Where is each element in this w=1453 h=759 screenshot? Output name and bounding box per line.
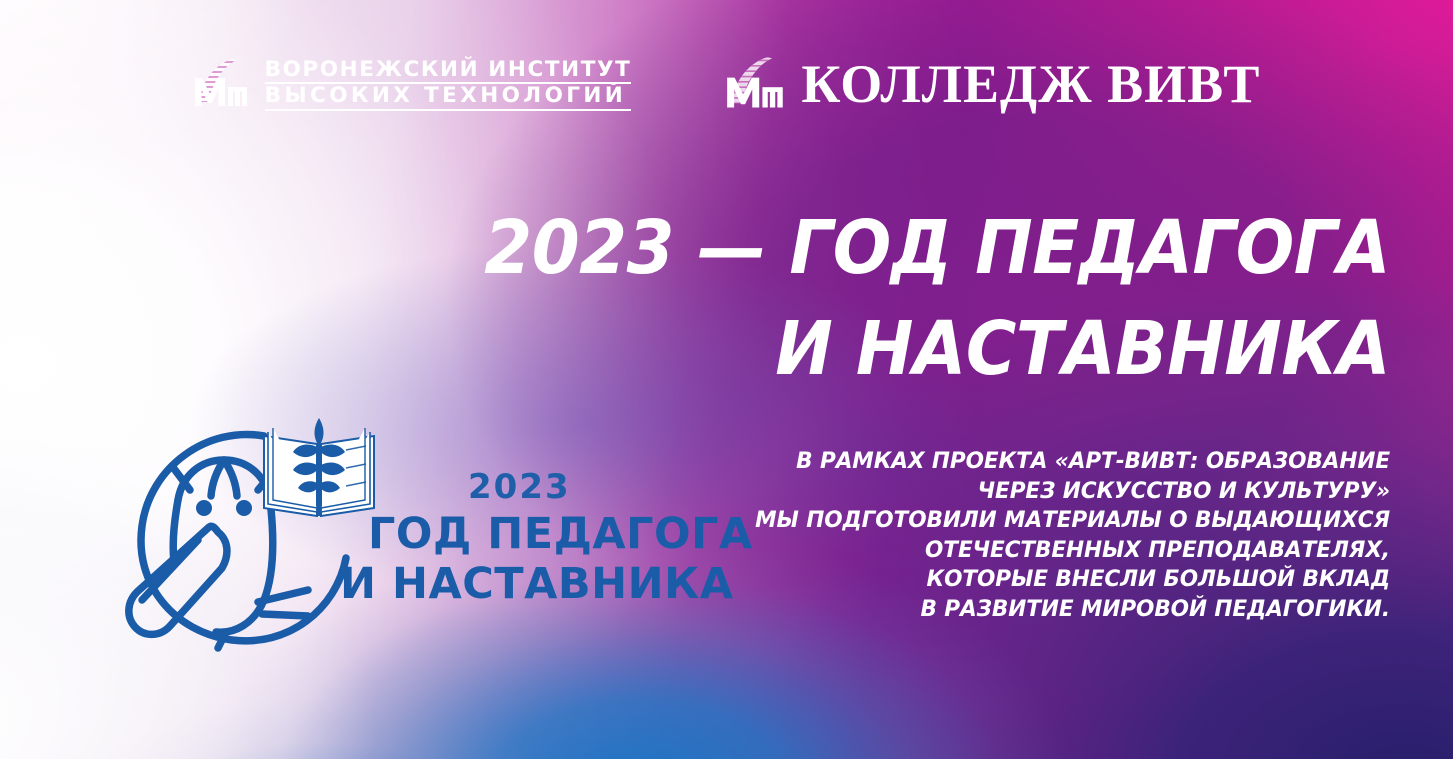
institute-wordmark: Воронежский институт высоких технологий xyxy=(265,58,632,111)
institute-wordmark-line-1: Воронежский институт xyxy=(265,58,632,85)
college-logo[interactable]: КОЛЛЕДЖ ВИВТ xyxy=(725,56,1260,112)
vivt-m-mark-icon xyxy=(193,58,251,110)
emblem-line-1: ГОД ПЕДАГОГА xyxy=(368,513,753,556)
vivt-m-mark-icon xyxy=(725,56,787,112)
institute-wordmark-line-2: высоких технологий xyxy=(265,84,632,111)
header-logo-row: Воронежский институт высоких технологий xyxy=(0,56,1453,112)
page-title-line-1: 2023 — ГОД ПЕДАГОГА xyxy=(432,198,1390,299)
description-paragraph: В рамках проекта «Арт-ВИВТ: Образование … xyxy=(670,447,1390,625)
description-line-2: через искусство и культуру» xyxy=(670,477,1390,507)
poster-canvas: Воронежский институт высоких технологий xyxy=(0,0,1453,759)
description-line-3: мы подготовили материалы о выдающихся xyxy=(670,506,1390,536)
open-book-wheat-icon xyxy=(260,416,378,524)
description-line-4: отечественных преподавателях, xyxy=(670,536,1390,566)
owl-eye-right xyxy=(236,500,252,516)
page-title: 2023 — ГОД ПЕДАГОГА И НАСТАВНИКА xyxy=(432,198,1390,401)
description-line-1: В рамках проекта «Арт-ВИВТ: Образование xyxy=(670,447,1390,477)
owl-eye-left xyxy=(196,500,212,516)
description-line-6: в развитие мировой педагогики. xyxy=(670,595,1390,625)
page-title-line-2: И НАСТАВНИКА xyxy=(432,299,1390,400)
emblem-line-2: И НАСТАВНИКА xyxy=(340,563,734,606)
year-of-teacher-emblem: 2023 ГОД ПЕДАГОГА И НАСТАВНИКА xyxy=(112,404,672,654)
description-line-5: которые внесли большой вклад xyxy=(670,565,1390,595)
college-wordmark: КОЛЛЕДЖ ВИВТ xyxy=(801,57,1260,111)
institute-logo[interactable]: Воронежский институт высоких технологий xyxy=(193,58,632,111)
emblem-year: 2023 xyxy=(468,470,571,504)
